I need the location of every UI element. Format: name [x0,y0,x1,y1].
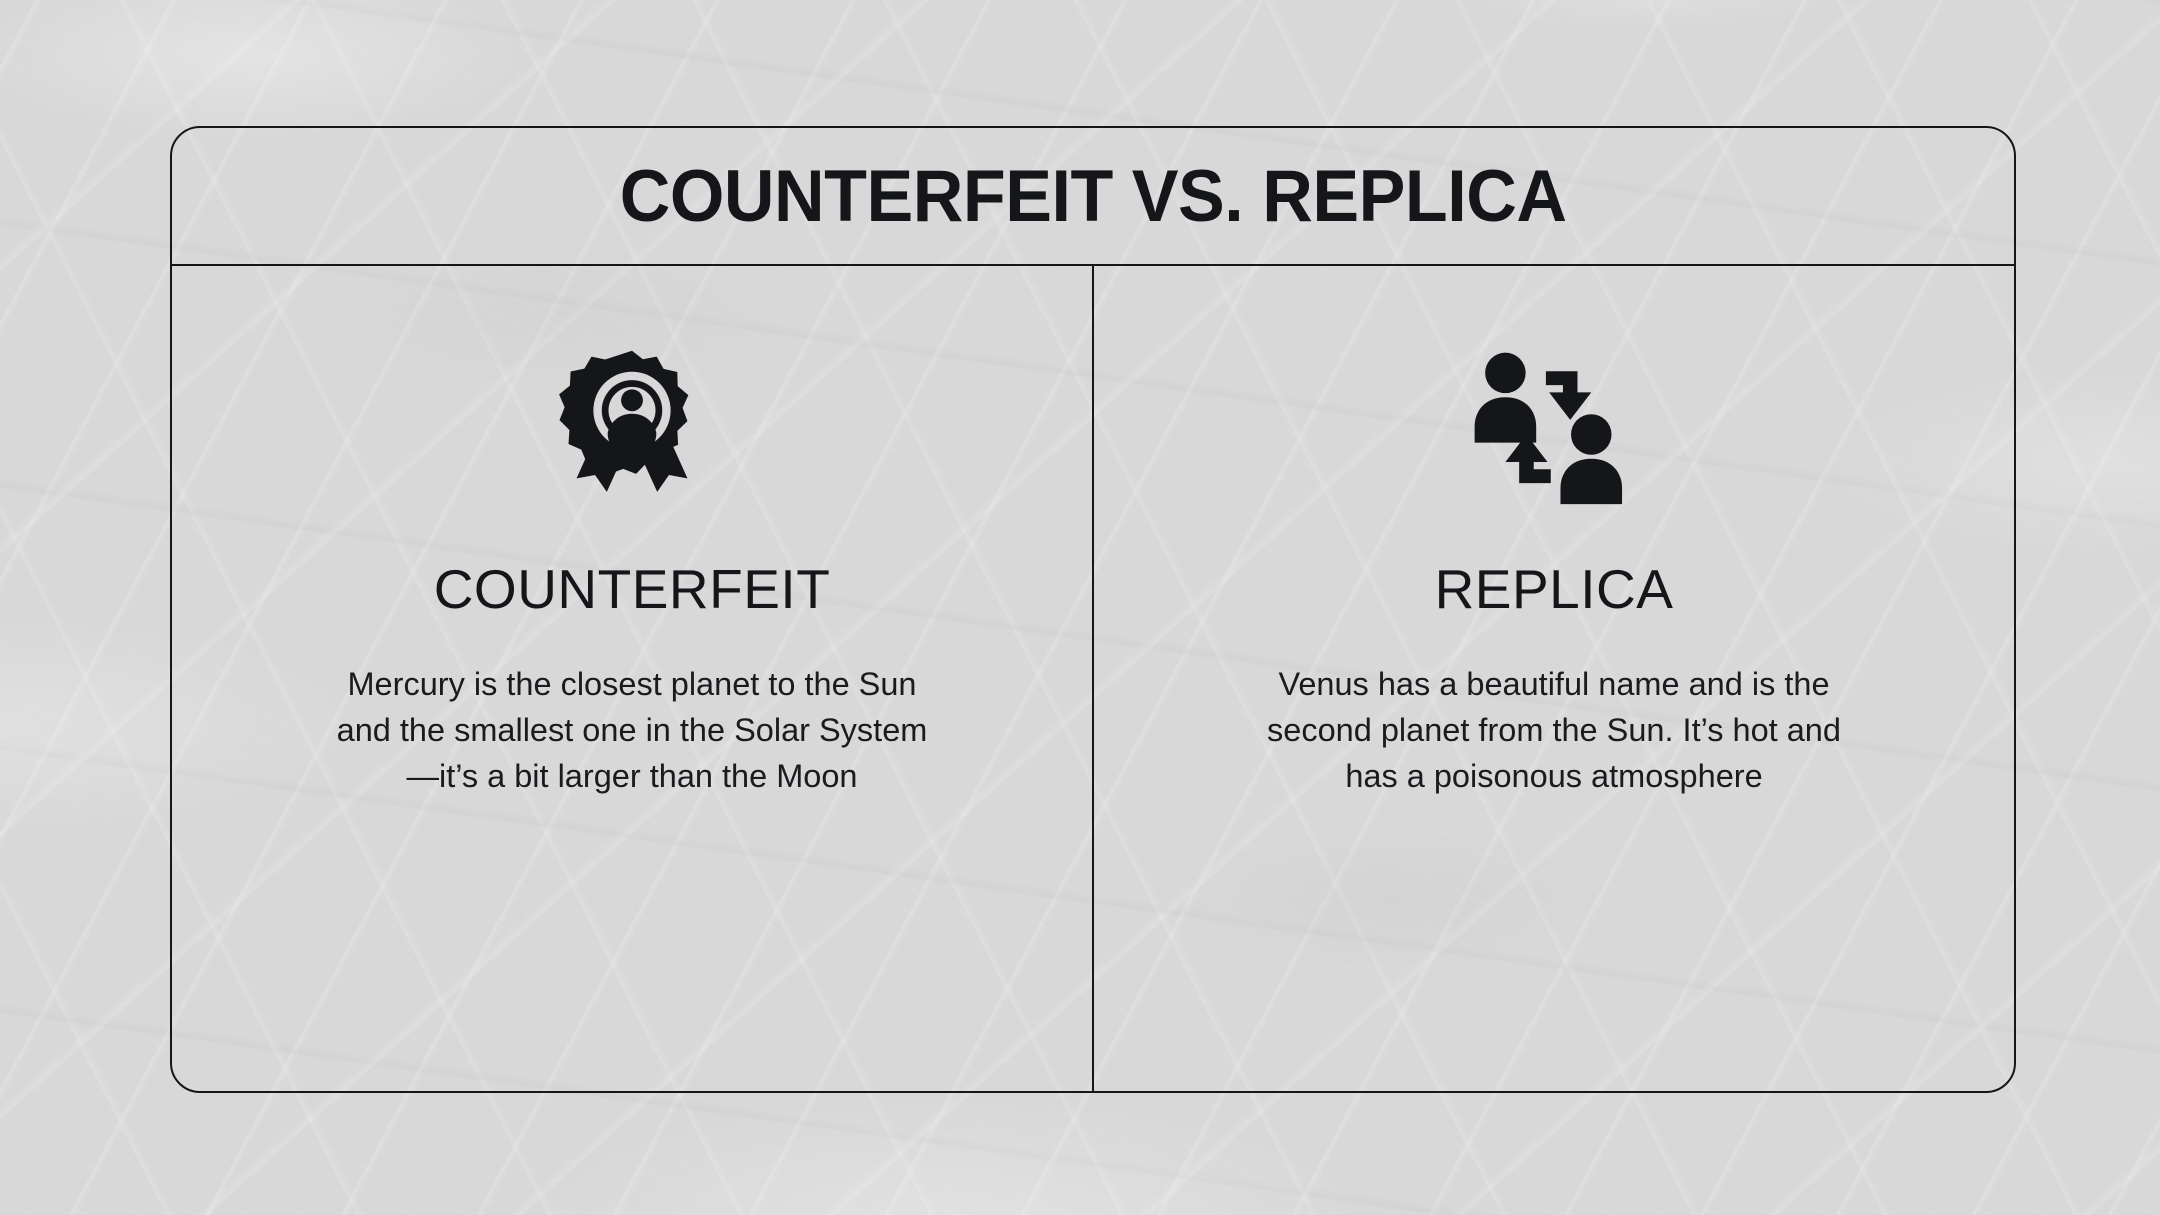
card-body: COUNTERFEIT Mercury is the closest plane… [172,266,2014,1091]
comparison-card: COUNTERFEIT VS. REPLICA [170,126,2016,1093]
verified-badge-person-icon [548,344,716,512]
people-exchange-arrows-icon [1473,344,1635,512]
page-title: COUNTERFEIT VS. REPLICA [620,155,1567,238]
panel-heading-counterfeit: COUNTERFEIT [434,562,831,617]
panel-body-replica: Venus has a beautiful name and is the se… [1254,661,1854,799]
panel-body-counterfeit: Mercury is the closest planet to the Sun… [322,661,942,799]
panel-replica: REPLICA Venus has a beautiful name and i… [1094,266,2014,1091]
card-title-bar: COUNTERFEIT VS. REPLICA [172,128,2014,266]
panel-heading-replica: REPLICA [1435,562,1674,617]
panel-counterfeit: COUNTERFEIT Mercury is the closest plane… [172,266,1092,1091]
